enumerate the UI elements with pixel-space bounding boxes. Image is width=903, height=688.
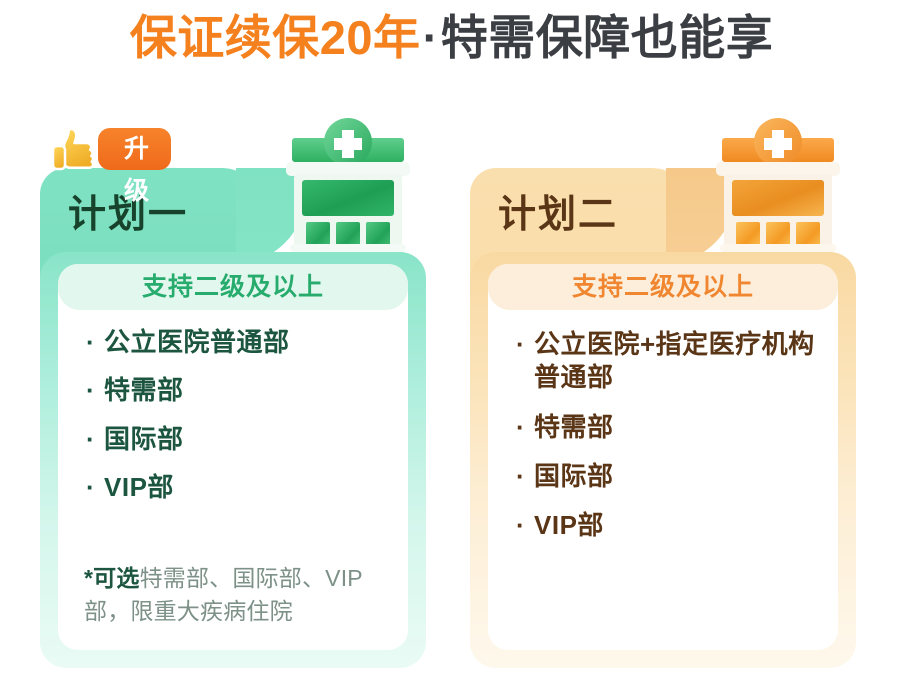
page-title: 保证续保20年·特需保障也能享	[0, 14, 903, 61]
plan-card-1-footnote: *可选特需部、国际部、VIP部，限重大疾病住院	[84, 562, 394, 627]
list-item: · 公立医院+指定医疗机构普通部	[516, 328, 822, 395]
plan-card-1[interactable]: 升级 计划一 支持二级及以上 · 公立医院普通部 ·	[40, 168, 426, 668]
plan-card-2-panel: 支持二级及以上 · 公立医院+指定医疗机构普通部 · 特需部 · 国际部 · V…	[488, 264, 838, 650]
list-item-label: 特需部	[534, 411, 822, 444]
list-item-label: 国际部	[104, 423, 392, 456]
list-item: · VIP部	[516, 509, 822, 542]
page-title-rest: 特需保障也能享	[441, 11, 774, 64]
list-item-label: 国际部	[534, 460, 822, 493]
list-item: · 国际部	[516, 460, 822, 493]
list-item-label: 公立医院普通部	[104, 326, 392, 359]
upgrade-badge-label: 升级	[98, 128, 171, 170]
footnote-emphasis: *可选	[84, 565, 140, 591]
page-title-highlight: 保证续保20年	[130, 11, 421, 64]
hospital-building-icon	[698, 116, 858, 266]
list-item-label: VIP部	[104, 471, 392, 504]
bullet-icon: ·	[516, 460, 534, 493]
plan-card-2-subtitle: 支持二级及以上	[488, 264, 838, 310]
list-item: · 特需部	[516, 411, 822, 444]
list-item: · 特需部	[86, 374, 392, 407]
list-item-label: VIP部	[534, 509, 822, 542]
plan-card-1-panel: 支持二级及以上 · 公立医院普通部 · 特需部 · 国际部 · VIP部 *可选…	[58, 264, 408, 650]
hospital-building-icon	[268, 116, 428, 266]
bullet-icon: ·	[86, 326, 104, 359]
list-item: · 国际部	[86, 423, 392, 456]
plan-card-2-feature-list: · 公立医院+指定医疗机构普通部 · 特需部 · 国际部 · VIP部	[516, 328, 822, 558]
list-item: · VIP部	[86, 471, 392, 504]
list-item-label: 特需部	[104, 374, 392, 407]
list-item-label: 公立医院+指定医疗机构普通部	[534, 328, 822, 395]
plan-card-1-subtitle: 支持二级及以上	[58, 264, 408, 310]
bullet-icon: ·	[86, 423, 104, 456]
bullet-icon: ·	[516, 509, 534, 542]
bullet-icon: ·	[516, 411, 534, 444]
list-item: · 公立医院普通部	[86, 326, 392, 359]
plan-card-1-feature-list: · 公立医院普通部 · 特需部 · 国际部 · VIP部	[86, 326, 392, 519]
bullet-icon: ·	[86, 374, 104, 407]
bullet-icon: ·	[86, 471, 104, 504]
plan-card-2[interactable]: 计划二 支持二级及以上 · 公立医院+指定医疗机构普通部 · 特需部 · 国际部…	[470, 168, 856, 668]
plan-card-2-title: 计划二	[498, 196, 618, 234]
bullet-icon: ·	[516, 328, 534, 361]
page-title-separator: ·	[421, 11, 441, 64]
thumbs-up-icon	[50, 126, 102, 174]
